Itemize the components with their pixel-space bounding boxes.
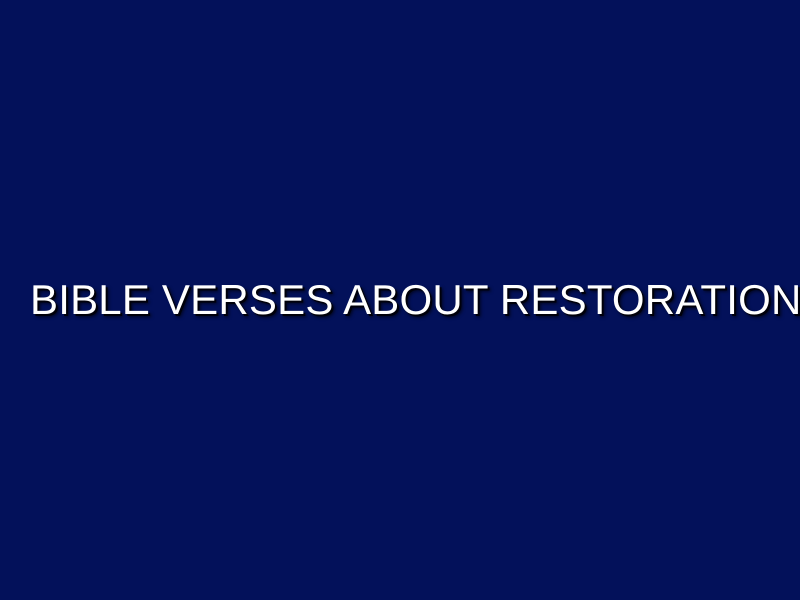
page-title: BIBLE VERSES ABOUT RESTORATION KJV xyxy=(30,276,770,323)
banner-content: BIBLE VERSES ABOUT RESTORATION KJV xyxy=(0,276,800,323)
title-banner: BIBLE VERSES ABOUT RESTORATION KJV xyxy=(0,0,800,600)
